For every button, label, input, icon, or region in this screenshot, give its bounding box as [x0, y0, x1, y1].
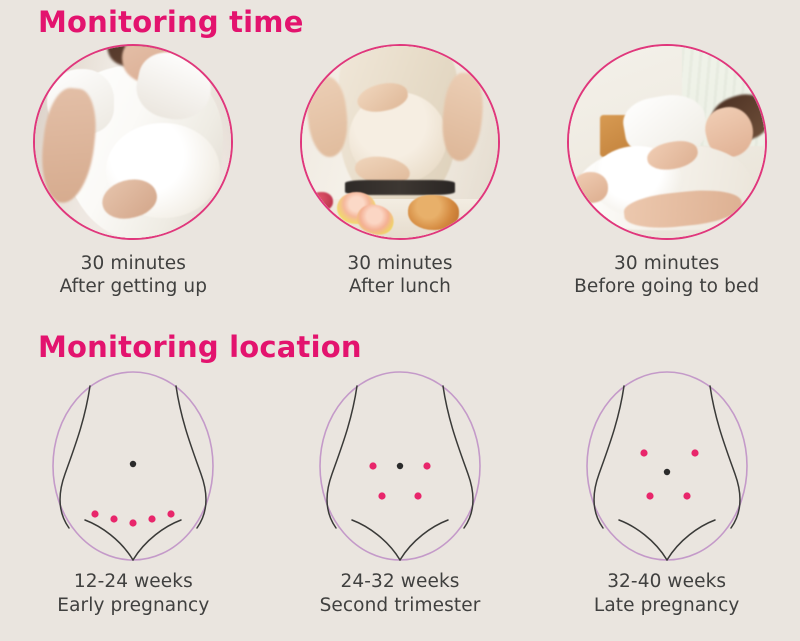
caption-line-2: Late pregnancy: [594, 594, 740, 618]
monitor-dot: [378, 492, 385, 499]
torso-diagram-second-trimester: [302, 368, 498, 564]
monitoring-time-item-before-bed: 30 minutes Before going to bed: [533, 44, 800, 299]
monitor-dot-group: [640, 449, 698, 499]
monitor-dot: [683, 492, 690, 499]
groin-right-line: [667, 520, 715, 560]
photo2-pastry: [408, 195, 459, 229]
torso-right-outline: [176, 386, 206, 528]
monitor-dot: [111, 515, 118, 522]
groin-left-line: [352, 520, 400, 560]
photo-inner-2: [302, 46, 498, 238]
caption-line-2: After lunch: [347, 275, 452, 299]
monitor-dot: [414, 492, 421, 499]
groin-right-line: [133, 520, 181, 560]
groin-left-line: [619, 520, 667, 560]
caption-line-1: 30 minutes: [60, 252, 208, 276]
groin-left-line: [85, 520, 133, 560]
caption-line-1: 30 minutes: [574, 252, 759, 276]
monitor-dot: [130, 519, 137, 526]
navel-marker: [663, 469, 669, 475]
torso-left-outline: [594, 386, 624, 528]
caption-line-1: 12-24 weeks: [57, 570, 209, 594]
monitoring-location-item-early-pregnancy: 12-24 weeks Early pregnancy: [0, 368, 267, 618]
photo-before-going-to-bed: [567, 44, 767, 240]
photo-after-getting-up: [33, 44, 233, 240]
torso-left-outline: [60, 386, 90, 528]
caption-late-pregnancy: 32-40 weeks Late pregnancy: [594, 570, 740, 617]
photo2-berries: [310, 192, 334, 211]
monitoring-location-item-late-pregnancy: 32-40 weeks Late pregnancy: [533, 368, 800, 618]
monitor-dot: [168, 510, 175, 517]
monitor-dot: [92, 510, 99, 517]
caption-line-1: 24-32 weeks: [320, 570, 481, 594]
monitor-dot-group: [92, 510, 175, 526]
caption-line-2: Before going to bed: [574, 275, 759, 299]
monitoring-time-item-after-getting-up: 30 minutes After getting up: [0, 44, 267, 299]
caption-line-1: 32-40 weeks: [594, 570, 740, 594]
caption-second-trimester: 24-32 weeks Second trimester: [320, 570, 481, 617]
monitor-dot: [149, 515, 156, 522]
section-title-monitoring-location: Monitoring location: [38, 333, 362, 362]
photo-inner-3: [569, 46, 765, 238]
section-title-monitoring-time: Monitoring time: [38, 8, 304, 37]
caption-line-2: Early pregnancy: [57, 594, 209, 618]
monitoring-time-row: 30 minutes After getting up: [0, 44, 800, 299]
torso-left-outline: [327, 386, 357, 528]
diagram-ring: [587, 372, 747, 560]
monitor-dot: [646, 492, 653, 499]
caption-line-2: Second trimester: [320, 594, 481, 618]
photo3-hand: [573, 172, 608, 203]
navel-marker: [130, 461, 136, 467]
torso-right-outline: [443, 386, 473, 528]
navel-marker: [397, 463, 403, 469]
torso-diagram-late-pregnancy: [569, 368, 765, 564]
monitoring-location-row: 12-24 weeks Early pregnancy 24-32 weeks …: [0, 368, 800, 618]
caption-line-2: After getting up: [60, 275, 208, 299]
caption-after-getting-up: 30 minutes After getting up: [60, 252, 208, 299]
torso-diagram-early-pregnancy: [35, 368, 231, 564]
monitor-dot: [691, 449, 698, 456]
monitoring-time-item-after-lunch: 30 minutes After lunch: [267, 44, 534, 299]
monitor-dot: [640, 449, 647, 456]
infographic-root: Monitoring time 30 minutes After: [0, 0, 800, 641]
caption-line-1: 30 minutes: [347, 252, 452, 276]
monitoring-location-item-second-trimester: 24-32 weeks Second trimester: [267, 368, 534, 618]
caption-after-lunch: 30 minutes After lunch: [347, 252, 452, 299]
groin-right-line: [400, 520, 448, 560]
torso-right-outline: [710, 386, 740, 528]
caption-before-going-to-bed: 30 minutes Before going to bed: [574, 252, 759, 299]
caption-early-pregnancy: 12-24 weeks Early pregnancy: [57, 570, 209, 617]
monitor-dot: [369, 462, 376, 469]
monitor-dot: [423, 462, 430, 469]
photo-after-lunch: [300, 44, 500, 240]
photo-inner-1: [35, 46, 231, 238]
